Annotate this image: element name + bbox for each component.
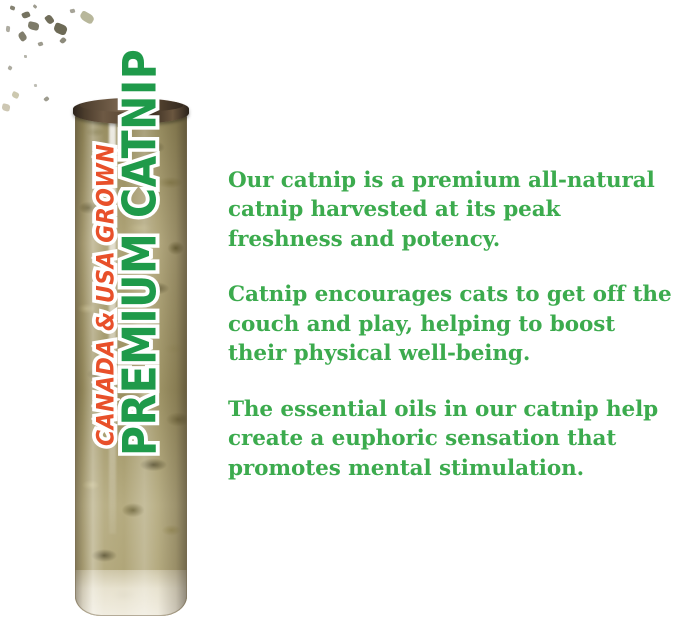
catnip-flake	[33, 4, 38, 9]
catnip-flake	[1, 103, 10, 112]
catnip-flake	[43, 96, 49, 102]
copy-paragraph-1: Our catnip is a premium all-natural catn…	[228, 166, 676, 254]
catnip-flake	[7, 65, 13, 71]
catnip-flake	[24, 55, 27, 58]
catnip-product-tube: CANADA & USA GROWN PREMIUM CATNIP	[72, 98, 190, 628]
catnip-flake	[59, 37, 67, 45]
catnip-flake	[21, 11, 31, 20]
catnip-flake	[27, 21, 39, 31]
marketing-copy-block: Our catnip is a premium all-natural catn…	[228, 166, 676, 483]
copy-paragraph-3: The essential oils in our catnip help cr…	[228, 395, 676, 483]
label-product-text: PREMIUM CATNIP	[117, 49, 163, 456]
catnip-flake	[44, 14, 55, 25]
product-label-sticker: CANADA & USA GROWN PREMIUM CATNIP	[70, 216, 186, 456]
catnip-flake	[37, 41, 43, 46]
catnip-flake	[17, 31, 28, 42]
catnip-flake	[34, 84, 38, 88]
catnip-flake	[70, 8, 76, 13]
copy-paragraph-2: Catnip encourages cats to get off the co…	[228, 280, 676, 368]
catnip-flake	[79, 10, 96, 25]
catnip-flake	[53, 22, 69, 36]
catnip-flake	[6, 26, 11, 32]
catnip-flake	[10, 5, 16, 10]
catnip-flake	[11, 91, 20, 99]
